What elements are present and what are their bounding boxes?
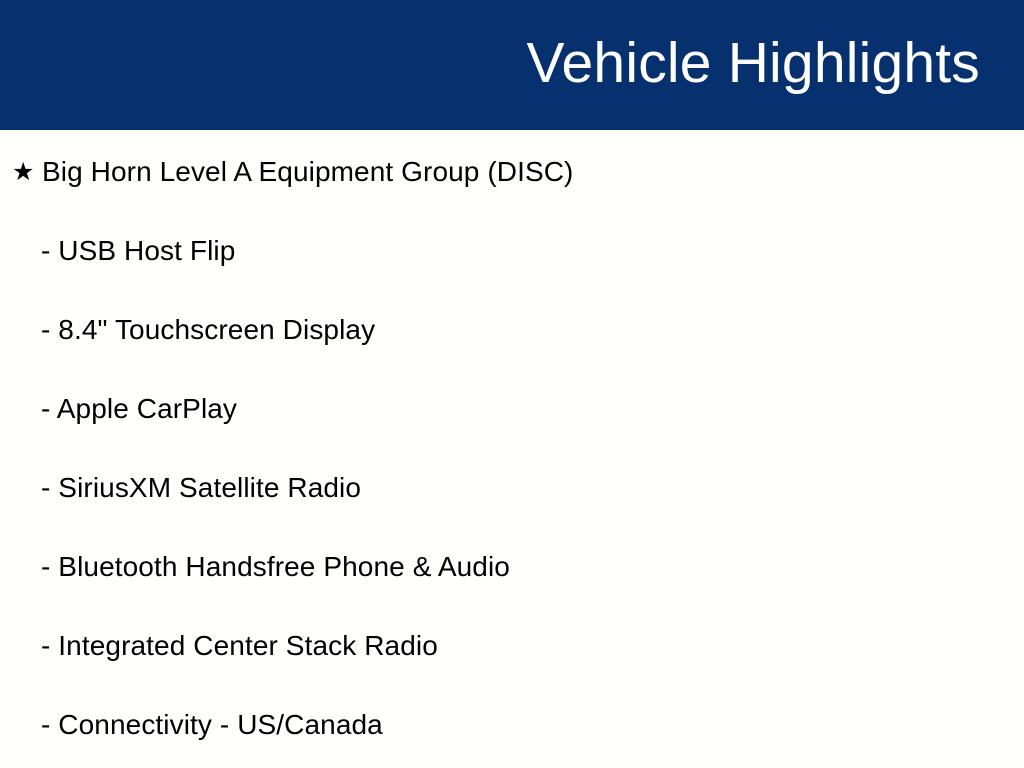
list-item-label: - SiriusXM Satellite Radio (41, 471, 361, 505)
list-item-label: - USB Host Flip (41, 234, 235, 268)
list-item: ★ Big Horn Level A Equipment Group (DISC… (0, 152, 1024, 192)
list-item: - SiriusXM Satellite Radio (0, 468, 1024, 508)
slide-header-band: Vehicle Highlights (0, 0, 1024, 130)
slide-canvas: Vehicle Highlights ★ Big Horn Level A Eq… (0, 0, 1024, 768)
list-item: - Bluetooth Handsfree Phone & Audio (0, 547, 1024, 587)
slide-body: ★ Big Horn Level A Equipment Group (DISC… (0, 130, 1024, 768)
list-item: - 8.4" Touchscreen Display (0, 310, 1024, 350)
list-item: - Integrated Center Stack Radio (0, 626, 1024, 666)
list-item-label: - 8.4" Touchscreen Display (41, 313, 375, 347)
list-item: - Connectivity - US/Canada (0, 705, 1024, 745)
list-item-label: Big Horn Level A Equipment Group (DISC) (42, 155, 573, 189)
list-item-label: - Bluetooth Handsfree Phone & Audio (41, 550, 510, 584)
list-item-label: - Integrated Center Stack Radio (41, 629, 438, 663)
list-item-label: - Connectivity - US/Canada (41, 708, 383, 742)
list-item: - Apple CarPlay (0, 389, 1024, 429)
list-item: - USB Host Flip (0, 231, 1024, 271)
star-bullet-icon: ★ (12, 160, 42, 185)
page-title: Vehicle Highlights (526, 28, 980, 98)
list-item-label: - Apple CarPlay (41, 392, 237, 426)
